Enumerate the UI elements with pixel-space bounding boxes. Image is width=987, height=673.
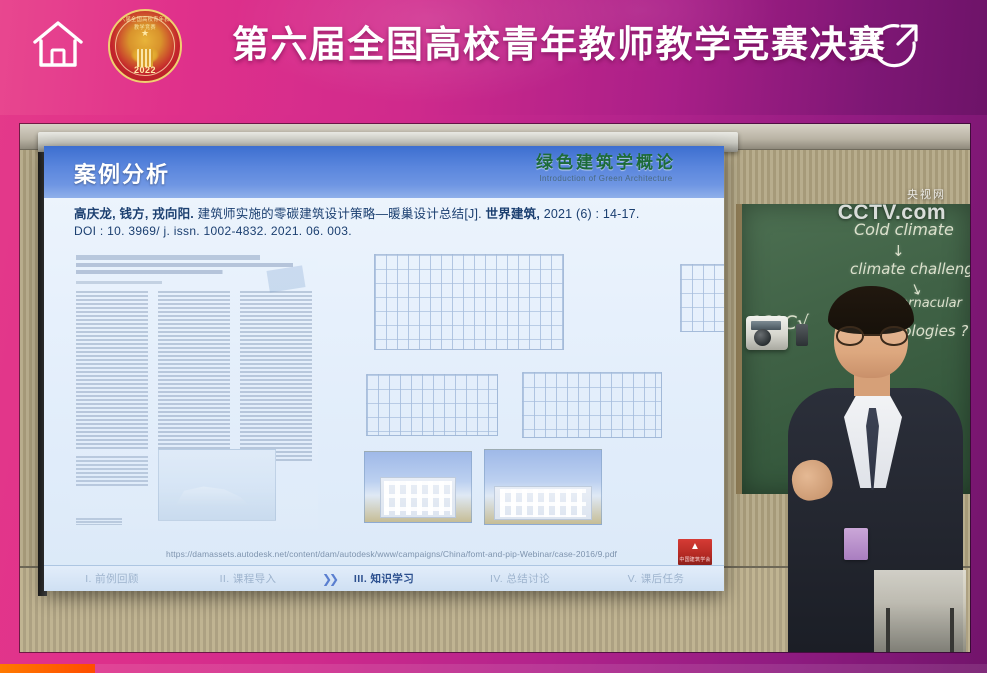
- elevation-right-grid: [522, 372, 662, 438]
- rendering-image-2: [484, 449, 602, 525]
- scan-footer: [76, 518, 122, 525]
- citation-journal: 世界建筑,: [486, 207, 540, 221]
- watermark-cn: 央视网: [838, 190, 946, 201]
- presenter-badge: [844, 528, 868, 560]
- slide: 案例分析 绿色建筑学概论 Introduction of Green Archi…: [44, 146, 724, 591]
- course-logo: 绿色建筑学概论 Introduction of Green Architectu…: [506, 153, 706, 185]
- nav-active-caret-icon: ❯❯: [322, 573, 336, 585]
- competition-logo: 第六届全国高校青年教师教学竞赛 ★ 2022: [108, 9, 182, 83]
- page-title: 第六届全国高校青年教师教学竞赛决赛: [232, 14, 852, 76]
- nav-item-4[interactable]: IV. 总结讨论: [452, 571, 588, 586]
- rendering-2-building: [494, 486, 591, 520]
- nav-item-2-label: II. 课程导入: [220, 573, 277, 585]
- rendering-image-1: [364, 451, 472, 523]
- glasses-icon: [836, 326, 908, 346]
- rendering-1-building: [380, 477, 456, 518]
- slide-title: 案例分析: [74, 157, 170, 189]
- glasses-lens-right: [880, 326, 908, 346]
- citation-block: 高庆龙, 钱方, 戎向阳. 建筑师实施的零碳建筑设计策略—暖巢设计总结[J]. …: [74, 206, 694, 240]
- video-progress-fill: [0, 664, 95, 673]
- badge-text: 中国建筑学会: [678, 556, 712, 563]
- nav-item-4-label: IV. 总结讨论: [490, 573, 550, 585]
- slide-source-url: https://damassets.autodesk.net/content/d…: [166, 549, 617, 559]
- site-plan-grid: [374, 254, 564, 350]
- nav-item-1-label: I. 前例回顾: [85, 573, 139, 585]
- classroom-desk: [874, 570, 966, 652]
- glasses-lens-left: [836, 326, 864, 346]
- paper-scan-thumbnail: [70, 251, 318, 529]
- watermark-en: CCTV.com: [838, 202, 946, 223]
- scan-title-cn: [76, 255, 312, 260]
- scan-building-photo: [158, 449, 276, 521]
- drawing-detail: [680, 264, 724, 332]
- nav-item-3-label: III. 知识学习: [354, 573, 414, 585]
- nav-item-2[interactable]: II. 课程导入: [180, 571, 316, 586]
- drawing-elevation-right: [522, 372, 662, 438]
- glasses-bridge: [864, 334, 880, 336]
- slide-section-nav: I. 前例回顾 II. 课程导入 ❯❯ III. 知识学习 IV. 总结讨论 V…: [44, 565, 724, 591]
- app-root: 第六届全国高校青年教师教学竞赛 ★ 2022 第六届全国高校青年教师教学竞赛决赛…: [0, 0, 987, 673]
- external-link-icon[interactable]: [868, 16, 924, 72]
- scan-column-1: [76, 291, 148, 449]
- drawing-site-plan: [374, 254, 564, 350]
- video-progress-bar[interactable]: [0, 664, 987, 673]
- video-player-stage[interactable]: Cold climate ↓ climate challenge ↘ + Ver…: [20, 124, 970, 652]
- home-icon[interactable]: [30, 18, 86, 70]
- scan-byline: [76, 281, 162, 284]
- scan-title-en-line1: [76, 263, 312, 267]
- nav-item-3[interactable]: ❯❯ III. 知识学习: [316, 571, 452, 586]
- camera-lens: [754, 329, 771, 346]
- scan-column-2: [158, 291, 230, 449]
- detail-grid: [680, 264, 724, 332]
- camera-strip: [751, 321, 781, 330]
- nav-item-5[interactable]: V. 课后任务: [588, 571, 724, 586]
- citation-doi: DOI : 10. 3969/ j. issn. 1002-4832. 2021…: [74, 223, 694, 240]
- cctv-watermark: 央视网 CCTV.com: [838, 190, 946, 223]
- desk-leg-right: [950, 608, 954, 652]
- desk-leg-left: [886, 608, 890, 652]
- nav-item-5-label: V. 课后任务: [628, 573, 685, 585]
- logo-year: 2022: [110, 65, 180, 75]
- course-logo-cn: 绿色建筑学概论: [506, 153, 706, 173]
- chalk-line-2: climate challenge: [850, 260, 970, 278]
- scan-abstract: [76, 456, 148, 488]
- citation-authors: 高庆龙, 钱方, 戎向阳.: [74, 207, 194, 221]
- course-logo-en: Introduction of Green Architecture: [506, 173, 706, 185]
- chalk-arrow-1: ↓: [892, 242, 905, 260]
- projection-screen: 案例分析 绿色建筑学概论 Introduction of Green Archi…: [44, 146, 724, 591]
- publisher-badge: ▲ 中国建筑学会: [678, 539, 712, 565]
- citation-issue: 2021 (6) : 14-17.: [544, 207, 640, 221]
- wall-camera-icon: [746, 316, 788, 350]
- nav-item-1[interactable]: I. 前例回顾: [44, 571, 180, 586]
- citation-article: 建筑师实施的零碳建筑设计策略—暖巢设计总结[J].: [198, 207, 482, 221]
- drawing-elevation-left: [366, 374, 498, 436]
- badge-mark-icon: ▲: [678, 541, 712, 552]
- scan-column-3: [240, 291, 312, 463]
- elevation-left-grid: [366, 374, 498, 436]
- page-header: 第六届全国高校青年教师教学竞赛 ★ 2022 第六届全国高校青年教师教学竞赛决赛: [0, 0, 987, 115]
